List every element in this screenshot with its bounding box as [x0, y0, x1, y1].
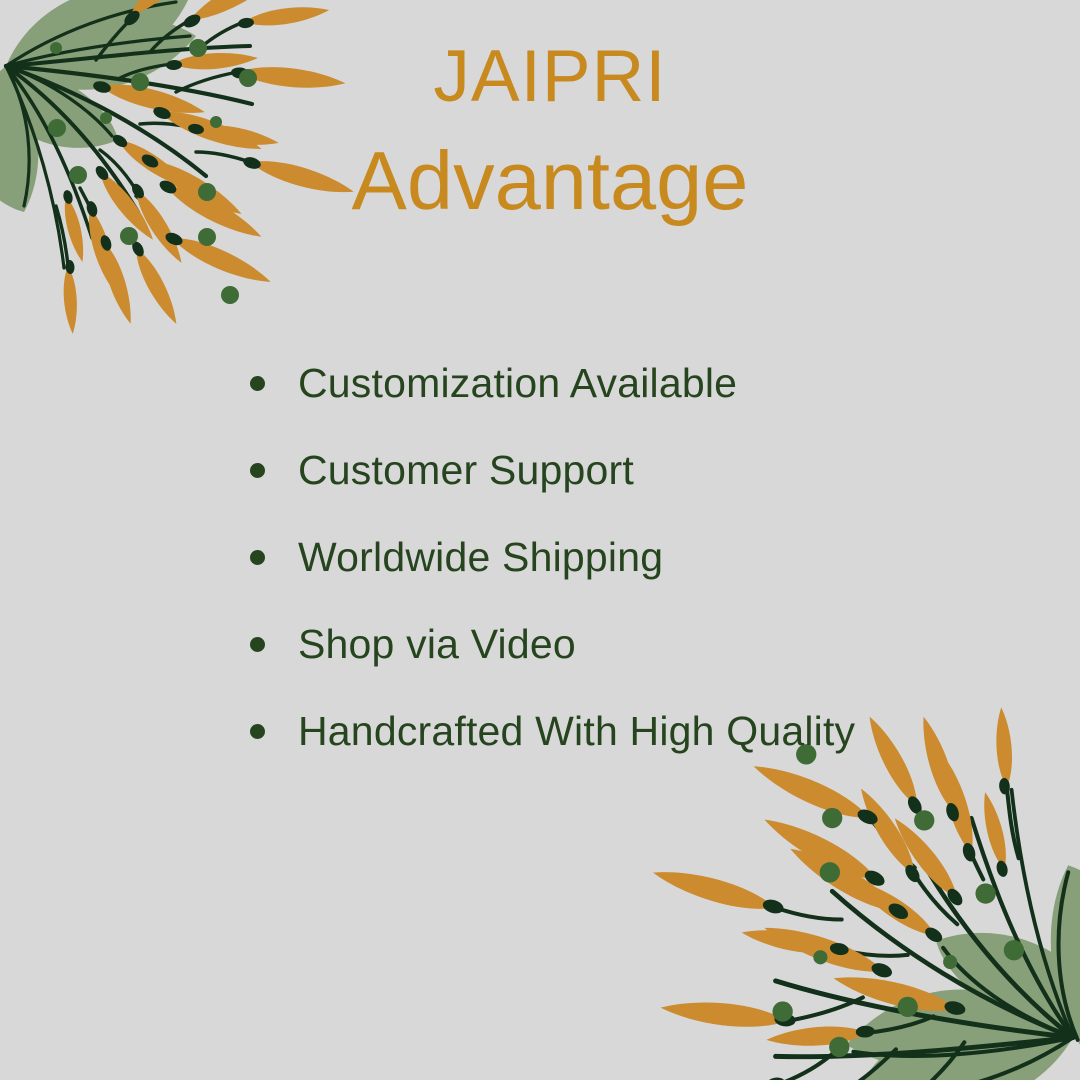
page-title: JAIPRI Advantage [290, 40, 810, 222]
bullet-icon [250, 637, 265, 652]
petal-tips-br [761, 778, 1010, 1080]
bullet-icon [250, 463, 265, 478]
bullet-icon [250, 376, 265, 391]
sage-leaf-group-tl [0, 0, 196, 230]
bullet-icon [250, 550, 265, 565]
feature-label: Customization Available [298, 360, 737, 407]
sage-leaf-group-br [846, 865, 1080, 1080]
title-word: Advantage [290, 139, 810, 222]
feature-list: Customization Available Customer Support… [250, 340, 1030, 775]
feature-label: Handcrafted With High Quality [298, 708, 855, 755]
list-item: Customization Available [250, 340, 1030, 427]
feature-label: Worldwide Shipping [298, 534, 663, 581]
petal-tips-tl [62, 8, 262, 274]
green-dots-tl [48, 39, 257, 304]
list-item: Handcrafted With High Quality [250, 688, 1030, 775]
feature-label: Shop via Video [298, 621, 576, 668]
list-item: Customer Support [250, 427, 1030, 514]
list-item: Worldwide Shipping [250, 514, 1030, 601]
green-dots-br [772, 744, 1024, 1057]
brand-name: JAIPRI [290, 40, 810, 113]
poster-canvas: JAIPRI Advantage Customization Available… [0, 0, 1080, 1080]
feature-label: Customer Support [298, 447, 634, 494]
bullet-icon [250, 724, 265, 739]
list-item: Shop via Video [250, 601, 1030, 688]
